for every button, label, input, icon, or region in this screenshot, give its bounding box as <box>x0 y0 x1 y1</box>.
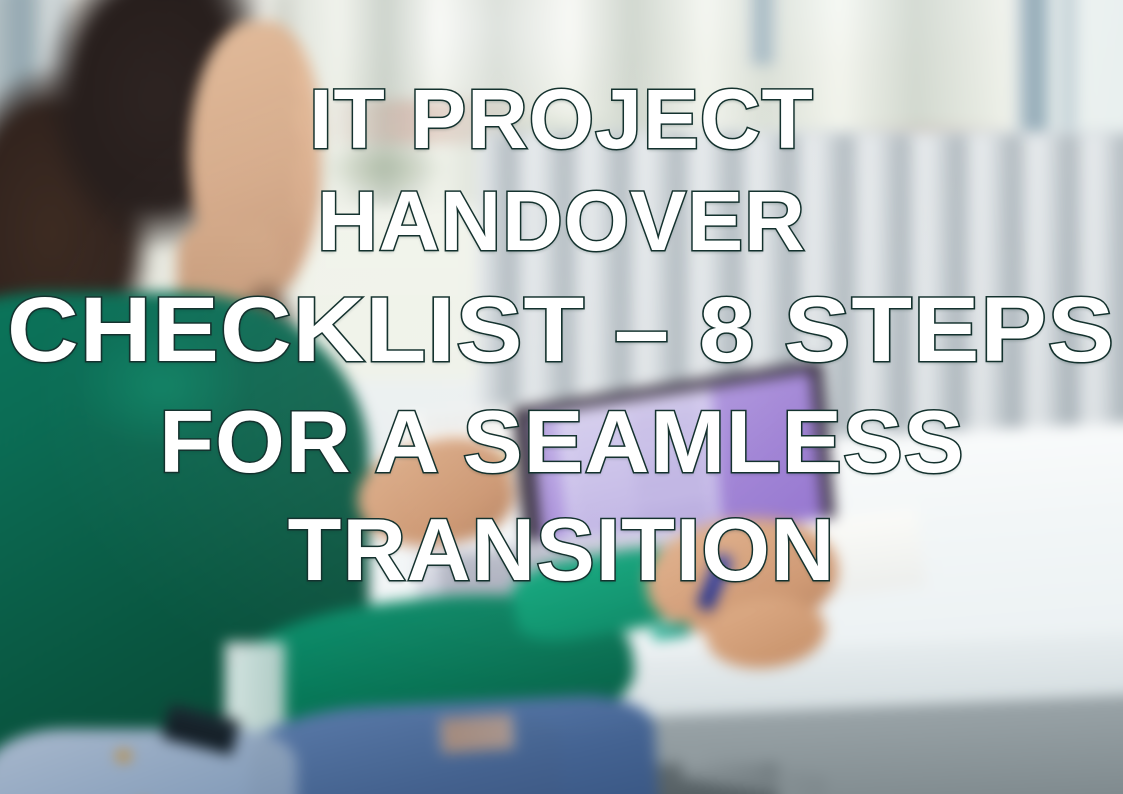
window-mullion-middle <box>748 0 777 65</box>
jeans-rip-threads <box>440 714 514 754</box>
sweater-shoulder-highlight <box>56 310 321 502</box>
background-photo <box>0 0 1123 794</box>
jeans-denim-texture <box>249 712 562 794</box>
laptop-screen-text-lines-2 <box>628 399 723 543</box>
hero-banner: IT PROJECT HANDOVER CHECKLIST – 8 STEPS … <box>0 0 1123 794</box>
